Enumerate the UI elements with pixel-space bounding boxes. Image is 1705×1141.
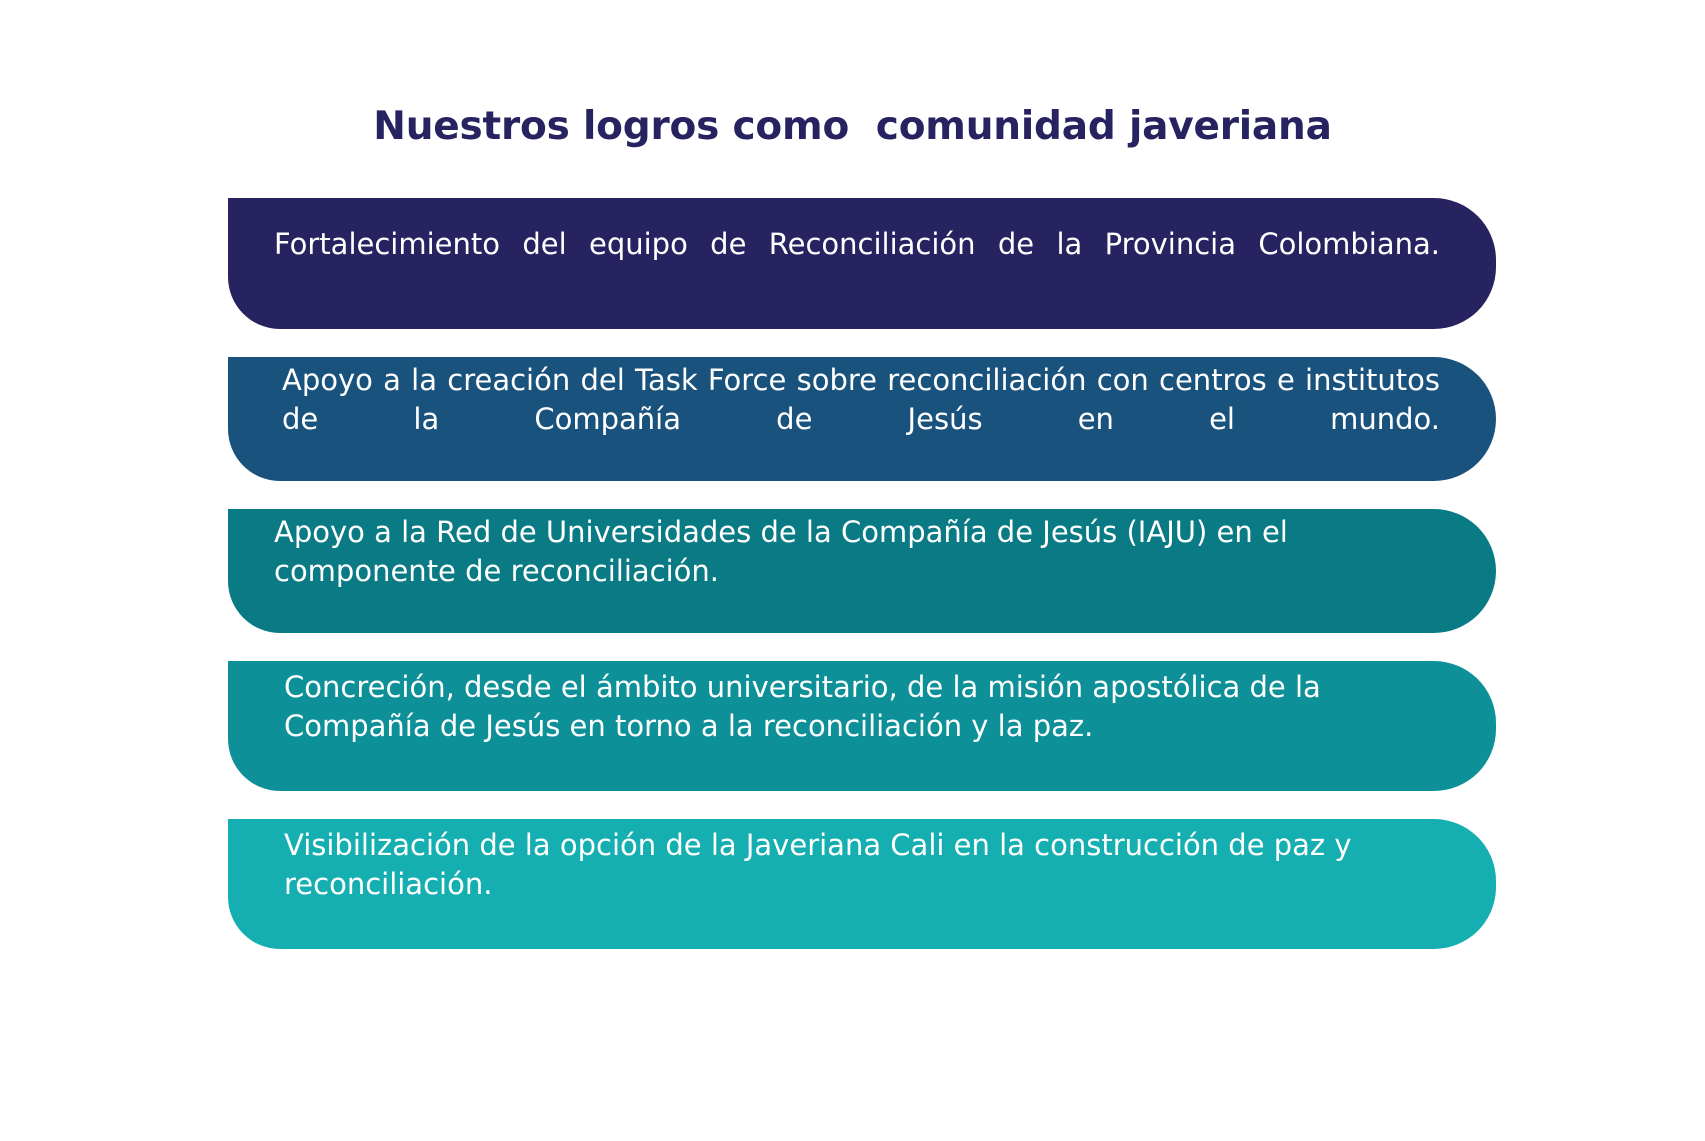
achievement-bar-1-label: Fortalecimiento del equipo de Reconcilia… [274, 225, 1440, 302]
achievement-bar-5: Visibilización de la opción de la Javeri… [228, 819, 1496, 949]
achievement-bar-2-label: Apoyo a la creación del Task Force sobre… [274, 361, 1440, 477]
achievement-bar-5-label: Visibilización de la opción de la Javeri… [274, 826, 1440, 942]
achievement-bar-3-label: Apoyo a la Red de Universidades de la Co… [274, 513, 1440, 629]
achievements-list: Fortalecimiento del equipo de Reconcilia… [228, 198, 1496, 949]
achievement-bar-4-label: Concreción, desde el ámbito universitari… [274, 668, 1440, 784]
achievement-bar-3: Apoyo a la Red de Universidades de la Co… [228, 509, 1496, 633]
achievement-bar-4: Concreción, desde el ámbito universitari… [228, 661, 1496, 791]
page-title: Nuestros logros como comunidad javeriana [0, 104, 1705, 151]
achievement-bar-1: Fortalecimiento del equipo de Reconcilia… [228, 198, 1496, 329]
achievement-bar-2: Apoyo a la creación del Task Force sobre… [228, 357, 1496, 481]
slide-canvas: Nuestros logros como comunidad javeriana… [0, 0, 1705, 1141]
